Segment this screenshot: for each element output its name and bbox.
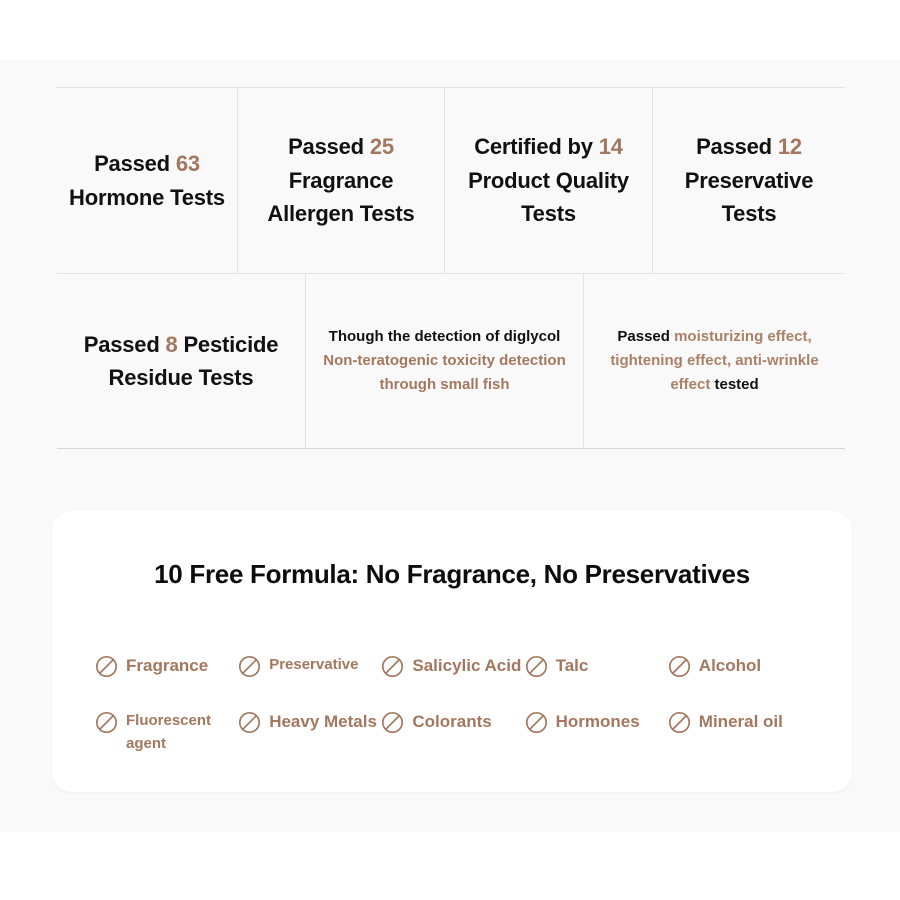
prohibited-icon	[94, 710, 119, 735]
prohibited-icon	[237, 710, 262, 735]
prohibited-icon	[380, 654, 405, 679]
free-formula-item: Salicylic Acid	[380, 653, 523, 679]
free-formula-item-label: Heavy Metals	[269, 709, 377, 735]
cert-text-diglycol: Though the detection of diglycol Non-ter…	[316, 325, 573, 396]
cert-cell-fragrance-allergen: Passed 25 Fragrance Allergen Tests	[238, 88, 445, 273]
prohibited-icon	[524, 654, 549, 679]
cert-diglycol-dark: Though the detection of diglycol	[329, 328, 561, 345]
free-formula-item: Fragrance	[94, 653, 237, 679]
free-formula-item: Heavy Metals	[237, 709, 380, 735]
prohibited-icon	[667, 654, 692, 679]
cert-text-product-quality: Certified by 14 Product Quality Tests	[455, 130, 642, 230]
free-formula-item: Alcohol	[667, 653, 810, 679]
cert-value-product-quality: 14	[599, 134, 623, 159]
cert-value-preservative: 12	[778, 134, 802, 159]
cert-tail-product-quality: Product Quality Tests	[468, 168, 629, 226]
cert-lead-preservative: Passed	[696, 134, 778, 159]
cert-value-pesticide-residue: 8	[166, 332, 178, 357]
free-formula-item-label: Salicylic Acid	[412, 653, 521, 679]
cert-cell-hormone: Passed 63 Hormone Tests	[57, 88, 238, 273]
cert-lead-fragrance-allergen: Passed	[288, 134, 370, 159]
cert-tail-preservative: Preservative Tests	[685, 168, 813, 226]
cert-lead-pesticide-residue: Passed	[84, 332, 166, 357]
cert-diglycol-accent: Non-teratogenic toxicity detection throu…	[323, 352, 566, 393]
free-formula-item-label: Preservative	[269, 653, 358, 676]
free-formula-title: 10 Free Formula: No Fragrance, No Preser…	[52, 559, 852, 590]
free-formula-item: Talc	[524, 653, 667, 679]
cert-text-pesticide-residue: Passed 8 Pesticide Residue Tests	[67, 328, 295, 395]
page-root: Passed 63 Hormone Tests Passed 25 Fragra…	[0, 0, 900, 900]
free-formula-item: Hormones	[524, 709, 667, 735]
cert-cell-preservative: Passed 12 Preservative Tests	[653, 88, 845, 273]
cert-value-hormone: 63	[176, 151, 200, 176]
free-formula-item-label: Hormones	[556, 709, 640, 735]
cert-text-hormone: Passed 63 Hormone Tests	[67, 147, 227, 214]
cert-lead-product-quality: Certified by	[474, 134, 599, 159]
cert-text-efficacy: Passed moisturizing effect, tightening e…	[594, 325, 835, 396]
free-formula-item-label: Mineral oil	[699, 709, 783, 735]
prohibited-icon	[524, 710, 549, 735]
free-formula-item-label: Colorants	[412, 709, 491, 735]
free-formula-item: Fluorescent agent	[94, 709, 237, 756]
cert-cell-product-quality: Certified by 14 Product Quality Tests	[445, 88, 653, 273]
prohibited-icon	[380, 710, 405, 735]
prohibited-icon	[94, 654, 119, 679]
prohibited-icon	[667, 710, 692, 735]
free-formula-item-label: Talc	[556, 653, 589, 679]
certification-row-1: Passed 63 Hormone Tests Passed 25 Fragra…	[57, 87, 845, 273]
cert-cell-pesticide-residue: Passed 8 Pesticide Residue Tests	[57, 274, 306, 448]
cert-text-preservative: Passed 12 Preservative Tests	[663, 130, 835, 230]
cert-text-fragrance-allergen: Passed 25 Fragrance Allergen Tests	[248, 130, 434, 230]
free-formula-item-label: Fluorescent agent	[126, 709, 237, 756]
free-formula-list: FragrancePreservativeSalicylic AcidTalcA…	[94, 653, 810, 765]
cert-cell-efficacy: Passed moisturizing effect, tightening e…	[584, 274, 845, 448]
free-formula-item: Mineral oil	[667, 709, 810, 735]
certification-row-2: Passed 8 Pesticide Residue Tests Though …	[57, 273, 845, 449]
free-formula-item: Colorants	[380, 709, 523, 735]
free-formula-item: Preservative	[237, 653, 380, 679]
free-formula-item-label: Fragrance	[126, 653, 208, 679]
cert-cell-diglycol: Though the detection of diglycol Non-ter…	[306, 274, 584, 448]
prohibited-icon	[237, 654, 262, 679]
cert-efficacy-lead: Passed	[617, 328, 674, 345]
cert-value-fragrance-allergen: 25	[370, 134, 394, 159]
free-formula-item-label: Alcohol	[699, 653, 761, 679]
certification-grid: Passed 63 Hormone Tests Passed 25 Fragra…	[57, 87, 845, 449]
cert-lead-hormone: Passed	[94, 151, 176, 176]
cert-tail-hormone: Hormone Tests	[69, 185, 225, 210]
cert-efficacy-tail: tested	[710, 376, 758, 393]
cert-tail-fragrance-allergen: Fragrance Allergen Tests	[267, 168, 414, 226]
free-formula-card: 10 Free Formula: No Fragrance, No Preser…	[52, 511, 852, 792]
